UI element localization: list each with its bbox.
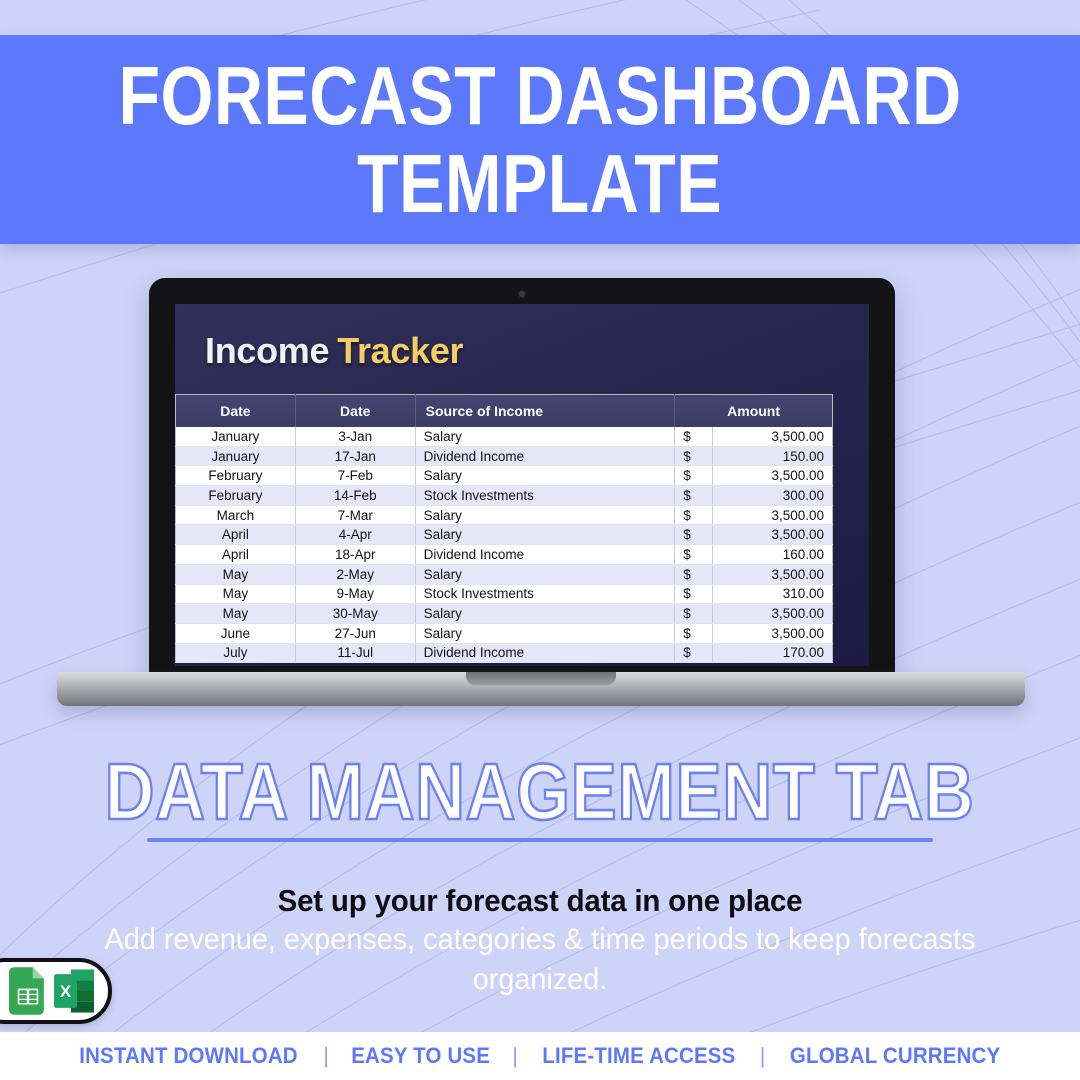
laptop-lid: IncomeTracker Date Date Source of Income…	[149, 278, 895, 678]
table-row[interactable]: May9-MayStock Investments$310.00	[176, 584, 833, 604]
table-row[interactable]: July11-JulDividend Income$170.00	[176, 643, 833, 663]
section-underline	[147, 838, 933, 842]
cell-date[interactable]: 7-Feb	[295, 466, 415, 486]
cell-amount[interactable]: 3,500.00	[713, 525, 833, 545]
cell-source[interactable]: Salary	[415, 466, 675, 486]
cell-month[interactable]: May	[176, 584, 296, 604]
cell-source[interactable]: Salary	[415, 564, 675, 584]
cell-source[interactable]: Salary	[415, 623, 675, 643]
table-row[interactable]: February7-FebSalary$3,500.00	[176, 466, 833, 486]
table-row[interactable]: June27-JunSalary$3,500.00	[176, 623, 833, 643]
table-row[interactable]: April4-AprSalary$3,500.00	[176, 525, 833, 545]
cell-source[interactable]: Salary	[415, 505, 675, 525]
column-header-amount[interactable]: Amount	[675, 395, 833, 427]
cell-month[interactable]: May	[176, 564, 296, 584]
banner-title-line-2: TEMPLATE	[357, 143, 722, 224]
footer-bar: INSTANT DOWNLOAD|EASY TO USE|LIFE-TIME A…	[0, 1032, 1080, 1080]
cell-currency[interactable]: $	[675, 643, 713, 663]
cell-source[interactable]: Salary	[415, 525, 675, 545]
laptop-screen: IncomeTracker Date Date Source of Income…	[175, 304, 869, 666]
table-row[interactable]: April18-AprDividend Income$160.00	[176, 545, 833, 565]
cell-currency[interactable]: $	[675, 486, 713, 506]
section-subheading: Set up your forecast data in one place	[27, 883, 1053, 919]
cell-currency[interactable]: $	[675, 525, 713, 545]
footer-item-4: GLOBAL CURRENCY	[790, 1043, 1000, 1069]
cell-amount[interactable]: 160.00	[713, 545, 833, 565]
cell-month[interactable]: January	[176, 446, 296, 466]
spreadsheet-title: IncomeTracker	[205, 330, 463, 372]
cell-date[interactable]: 17-Jan	[295, 446, 415, 466]
table-row[interactable]: May2-MaySalary$3,500.00	[176, 564, 833, 584]
cell-month[interactable]: February	[176, 466, 296, 486]
cell-currency[interactable]: $	[675, 505, 713, 525]
table-row[interactable]: May30-MaySalary$3,500.00	[176, 604, 833, 624]
spreadsheet-title-white: Income	[205, 330, 329, 371]
cell-currency[interactable]: $	[675, 604, 713, 624]
cell-source[interactable]: Salary	[415, 604, 675, 624]
laptop-base	[57, 672, 1025, 706]
income-tracker-table[interactable]: Date Date Source of Income Amount Januar…	[175, 394, 833, 663]
cell-currency[interactable]: $	[675, 446, 713, 466]
cell-month[interactable]: February	[176, 486, 296, 506]
cell-currency[interactable]: $	[675, 564, 713, 584]
table-row[interactable]: February14-FebStock Investments$300.00	[176, 486, 833, 506]
column-header-source[interactable]: Source of Income	[415, 395, 675, 427]
cell-date[interactable]: 11-Jul	[295, 643, 415, 663]
cell-month[interactable]: March	[176, 505, 296, 525]
cell-currency[interactable]: $	[675, 466, 713, 486]
footer-item-3: LIFE-TIME ACCESS	[542, 1043, 735, 1069]
cell-date[interactable]: 3-Jan	[295, 427, 415, 447]
table-body: January3-JanSalary$3,500.00January17-Jan…	[176, 427, 833, 663]
banner-title-line-1: FORECAST DASHBOARD	[118, 55, 961, 136]
cell-source[interactable]: Dividend Income	[415, 643, 675, 663]
footer-separator: |	[323, 1043, 329, 1069]
spreadsheet-title-gold: Tracker	[337, 330, 463, 371]
section-outline-title: DATA MANAGEMENT TAB	[105, 752, 975, 832]
cell-amount[interactable]: 170.00	[713, 643, 833, 663]
svg-text:X: X	[60, 982, 72, 1001]
cell-amount[interactable]: 3,500.00	[713, 623, 833, 643]
cell-amount[interactable]: 150.00	[713, 446, 833, 466]
cell-amount[interactable]: 3,500.00	[713, 604, 833, 624]
cell-amount[interactable]: 3,500.00	[713, 427, 833, 447]
cell-month[interactable]: April	[176, 545, 296, 565]
footer-item-2: EASY TO USE	[351, 1043, 490, 1069]
section-heading-block: DATA MANAGEMENT TAB	[0, 752, 1080, 842]
footer-item-1: INSTANT DOWNLOAD	[79, 1043, 298, 1069]
cell-amount[interactable]: 300.00	[713, 486, 833, 506]
google-sheets-icon	[9, 967, 47, 1015]
column-header-date[interactable]: Date	[295, 395, 415, 427]
cell-amount[interactable]: 3,500.00	[713, 466, 833, 486]
cell-currency[interactable]: $	[675, 584, 713, 604]
cell-date[interactable]: 14-Feb	[295, 486, 415, 506]
cell-date[interactable]: 18-Apr	[295, 545, 415, 565]
cell-source[interactable]: Dividend Income	[415, 446, 675, 466]
cell-amount[interactable]: 310.00	[713, 584, 833, 604]
table-header-row: Date Date Source of Income Amount	[176, 395, 833, 427]
cell-source[interactable]: Salary	[415, 427, 675, 447]
cell-date[interactable]: 2-May	[295, 564, 415, 584]
cell-source[interactable]: Stock Investments	[415, 486, 675, 506]
cell-month[interactable]: January	[176, 427, 296, 447]
cell-date[interactable]: 4-Apr	[295, 525, 415, 545]
cell-source[interactable]: Stock Investments	[415, 584, 675, 604]
cell-date[interactable]: 7-Mar	[295, 505, 415, 525]
cell-date[interactable]: 30-May	[295, 604, 415, 624]
app-compatibility-badge: X	[0, 958, 112, 1024]
cell-date[interactable]: 27-Jun	[295, 623, 415, 643]
footer-separator: |	[512, 1043, 518, 1069]
cell-month[interactable]: June	[176, 623, 296, 643]
table-row[interactable]: January3-JanSalary$3,500.00	[176, 427, 833, 447]
microsoft-excel-icon: X	[54, 969, 94, 1013]
cell-amount[interactable]: 3,500.00	[713, 564, 833, 584]
cell-currency[interactable]: $	[675, 545, 713, 565]
cell-date[interactable]: 9-May	[295, 584, 415, 604]
cell-currency[interactable]: $	[675, 623, 713, 643]
header-banner: FORECAST DASHBOARD TEMPLATE	[0, 35, 1080, 244]
cell-amount[interactable]: 3,500.00	[713, 505, 833, 525]
table-row[interactable]: March7-MarSalary$3,500.00	[176, 505, 833, 525]
footer-separator: |	[760, 1043, 766, 1069]
cell-source[interactable]: Dividend Income	[415, 545, 675, 565]
cell-currency[interactable]: $	[675, 427, 713, 447]
webcam-icon	[518, 290, 526, 298]
cell-month[interactable]: May	[176, 604, 296, 624]
table-row[interactable]: January17-JanDividend Income$150.00	[176, 446, 833, 466]
cell-month[interactable]: April	[176, 525, 296, 545]
cell-month[interactable]: July	[176, 643, 296, 663]
laptop-notch	[466, 672, 616, 685]
section-description: Add revenue, expenses, categories & time…	[79, 920, 1001, 999]
column-header-month[interactable]: Date	[176, 395, 296, 427]
